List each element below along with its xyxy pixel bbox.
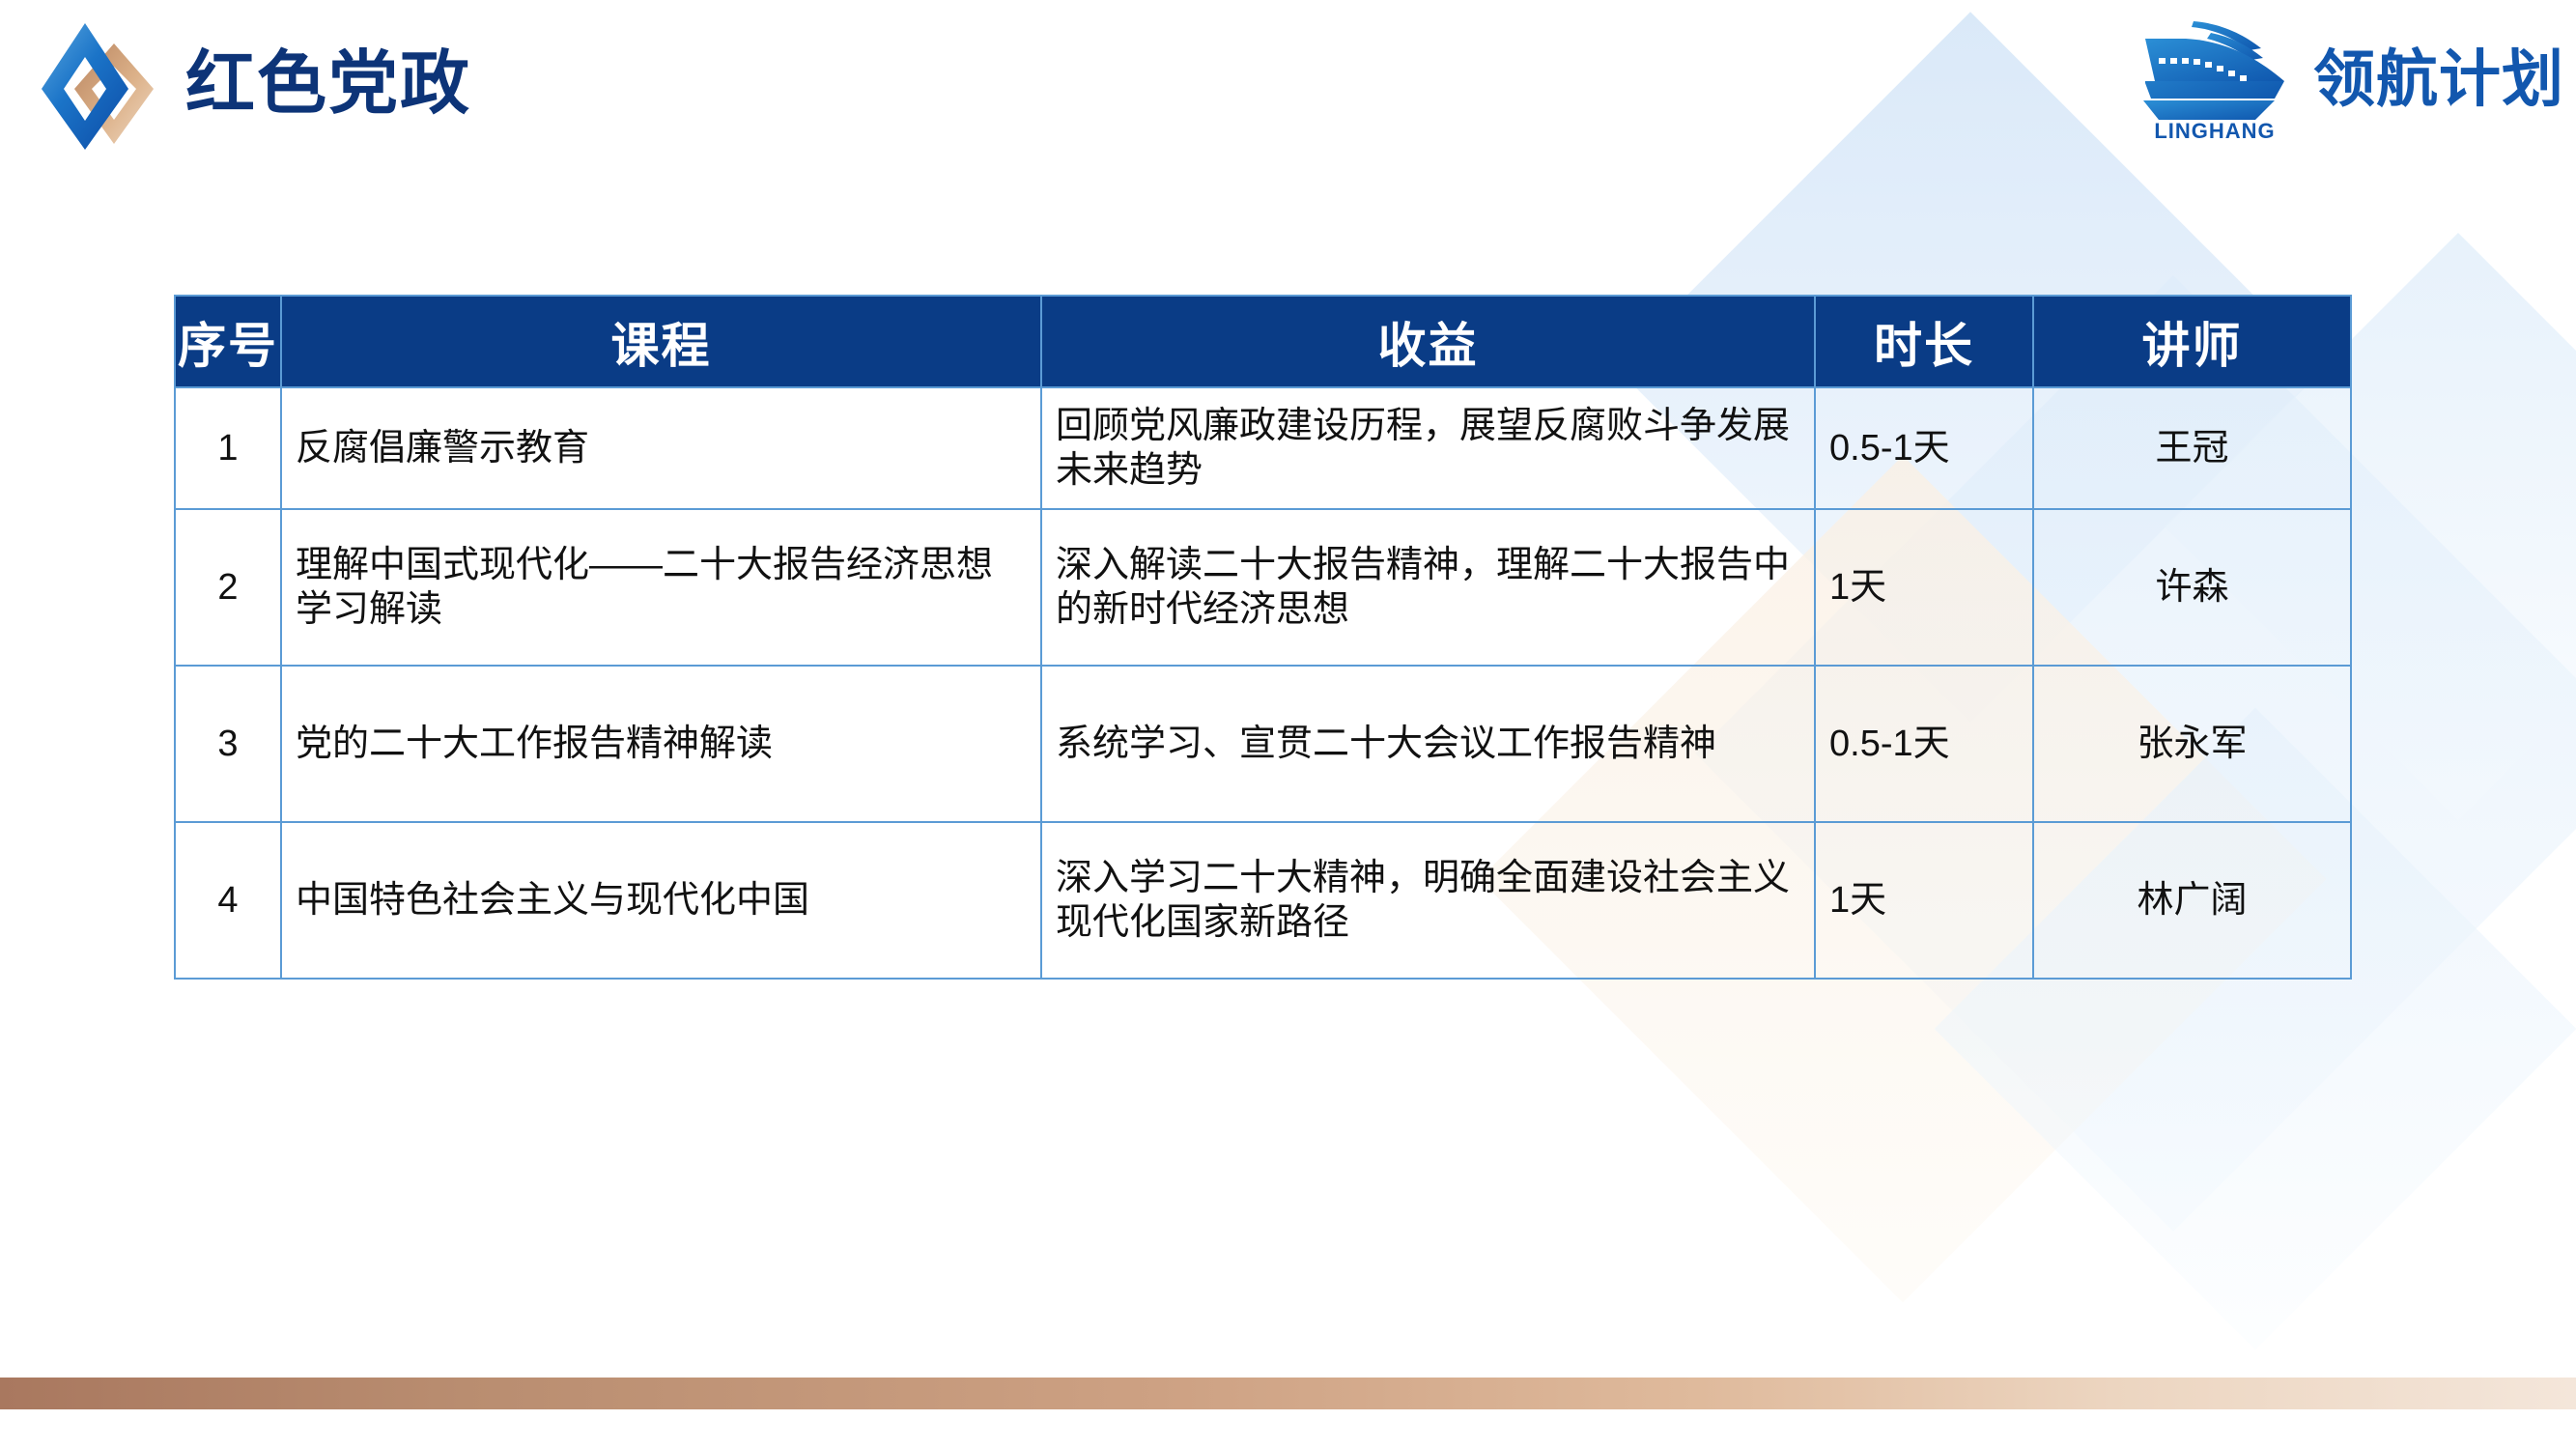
cell-benefit: 深入解读二十大报告精神，理解二十大报告中的新时代经济思想 xyxy=(1041,509,1815,666)
cell-index: 3 xyxy=(175,666,281,822)
page-title: 红色党政 xyxy=(185,49,471,119)
cell-course: 中国特色社会主义与现代化中国 xyxy=(281,822,1041,979)
cell-course: 理解中国式现代化——二十大报告经济思想学习解读 xyxy=(281,509,1041,666)
table-header-row: 序号 课程 收益 时长 讲师 xyxy=(175,296,2351,387)
slide-header: 红色党政 xyxy=(0,0,2576,174)
column-header-time: 时长 xyxy=(1815,296,2033,387)
cell-index: 1 xyxy=(175,387,281,509)
partner-title: 领航计划 xyxy=(2313,48,2564,110)
cell-index: 4 xyxy=(175,822,281,979)
cell-teacher: 林广阔 xyxy=(2033,822,2351,979)
partner-subtitle-text: LINGHANG xyxy=(2154,119,2275,143)
cell-teacher: 张永军 xyxy=(2033,666,2351,822)
cell-benefit: 回顾党风廉政建设历程，展望反腐败斗争发展未来趋势 xyxy=(1041,387,1815,509)
footer-accent-bar xyxy=(0,1378,2576,1409)
cell-benefit: 系统学习、宣贯二十大会议工作报告精神 xyxy=(1041,666,1815,822)
column-header-benefit: 收益 xyxy=(1041,296,1815,387)
cell-duration: 0.5-1天 xyxy=(1815,666,2033,822)
slide-root: 红色党政 xyxy=(0,0,2576,1449)
ship-icon: LINGHANG xyxy=(2130,15,2304,143)
column-header-index: 序号 xyxy=(175,296,281,387)
diamond-logo xyxy=(29,12,164,156)
cell-duration: 0.5-1天 xyxy=(1815,387,2033,509)
course-table: 序号 课程 收益 时长 讲师 1 反腐倡廉警示教育 回顾党风廉政建设历程，展望反… xyxy=(174,295,2352,980)
cell-teacher: 王冠 xyxy=(2033,387,2351,509)
cell-course: 反腐倡廉警示教育 xyxy=(281,387,1041,509)
cell-index: 2 xyxy=(175,509,281,666)
cell-benefit: 深入学习二十大精神，明确全面建设社会主义现代化国家新路径 xyxy=(1041,822,1815,979)
course-table-container: 序号 课程 收益 时长 讲师 1 反腐倡廉警示教育 回顾党风廉政建设历程，展望反… xyxy=(174,295,2350,980)
cell-duration: 1天 xyxy=(1815,822,2033,979)
table-row: 3 党的二十大工作报告精神解读 系统学习、宣贯二十大会议工作报告精神 0.5-1… xyxy=(175,666,2351,822)
column-header-teacher: 讲师 xyxy=(2033,296,2351,387)
brand-block: 红色党政 xyxy=(29,12,471,156)
column-header-course: 课程 xyxy=(281,296,1041,387)
table-row: 1 反腐倡廉警示教育 回顾党风廉政建设历程，展望反腐败斗争发展未来趋势 0.5-… xyxy=(175,387,2351,509)
partner-block: LINGHANG 领航计划 xyxy=(2130,15,2564,143)
table-row: 4 中国特色社会主义与现代化中国 深入学习二十大精神，明确全面建设社会主义现代化… xyxy=(175,822,2351,979)
cell-course: 党的二十大工作报告精神解读 xyxy=(281,666,1041,822)
table-row: 2 理解中国式现代化——二十大报告经济思想学习解读 深入解读二十大报告精神，理解… xyxy=(175,509,2351,666)
cell-duration: 1天 xyxy=(1815,509,2033,666)
cell-teacher: 许森 xyxy=(2033,509,2351,666)
